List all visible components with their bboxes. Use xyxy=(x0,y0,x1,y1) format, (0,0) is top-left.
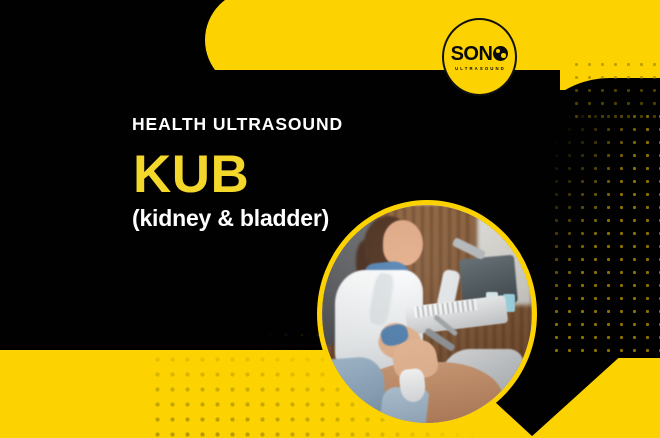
photo-sonographer-face xyxy=(383,220,423,266)
page-title: KUB xyxy=(133,148,343,201)
subtitle-text: (kidney & bladder) xyxy=(132,207,343,230)
logo-tagline: ULTRASOUND xyxy=(455,66,506,71)
sono-dot-o-icon xyxy=(493,46,508,61)
promo-banner: SON ULTRASOUND HEALTH ULTRASOUND KUB (ki… xyxy=(0,0,660,438)
logo-wordmark-text: SON xyxy=(451,44,493,64)
photo-composition xyxy=(322,205,532,423)
headline-block: HEALTH ULTRASOUND KUB (kidney & bladder) xyxy=(132,116,343,230)
photo-patient-jeans-left xyxy=(322,355,387,423)
ultrasound-photo xyxy=(317,200,537,428)
halftone-dots-right xyxy=(550,110,660,360)
halftone-dots-right-top xyxy=(570,58,660,118)
logo-wordmark: SON xyxy=(451,44,509,64)
sono-logo[interactable]: SON ULTRASOUND xyxy=(442,18,517,96)
eyebrow-text: HEALTH ULTRASOUND xyxy=(132,116,343,134)
